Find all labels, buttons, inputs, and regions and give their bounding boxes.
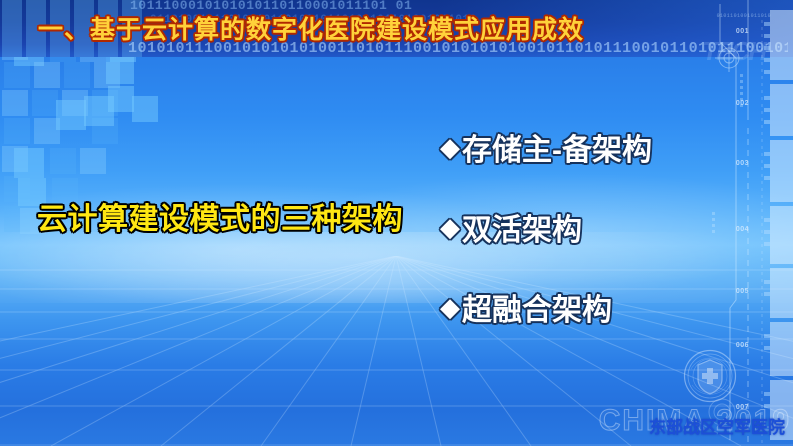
diamond-bullet-icon: ◆ — [440, 294, 460, 320]
bullet-label: 存储主-备架构 — [462, 125, 652, 169]
hud-label-007: 007 — [736, 404, 749, 411]
bullet-item-active-active: ◆ 双活架构 — [440, 205, 750, 249]
heading-highlight-box: 云计算建设模式的三种架构 — [37, 194, 403, 238]
bullet-label: 双活架构 — [462, 205, 582, 249]
bullet-item-storage-active-standby: ◆ 存储主-备架构 — [440, 125, 750, 169]
diamond-bullet-icon: ◆ — [440, 134, 460, 160]
slide-canvas: 1011100010101010110110001011101 01 01101… — [0, 0, 793, 446]
bullet-item-hyperconverged: ◆ 超融合架构 — [440, 285, 750, 329]
diamond-bullet-icon: ◆ — [440, 214, 460, 240]
hud-label-002: 002 — [736, 100, 749, 107]
event-watermark: CHIMA 2019 — [599, 404, 791, 438]
slide-title: 一、基于云计算的数字化医院建设模式应用成效 — [38, 10, 584, 46]
bullet-label: 超融合架构 — [462, 285, 612, 329]
organization-watermark: 东部战区空军医院 — [649, 413, 785, 438]
bullet-list: ◆ 存储主-备架构 ◆ 双活架构 ◆ 超融合架构 — [440, 125, 750, 365]
